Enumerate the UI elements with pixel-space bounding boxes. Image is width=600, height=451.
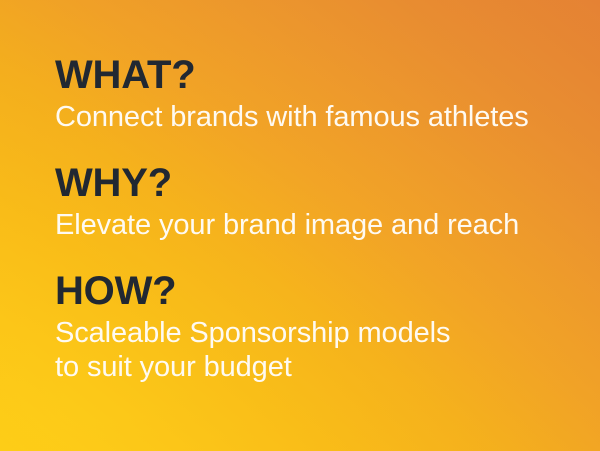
slide-content: WHAT? Connect brands with famous athlete… — [55, 52, 580, 384]
block-heading-why: WHY? — [55, 160, 580, 206]
value-prop-block-how: HOW? Scaleable Sponsorship models to sui… — [55, 268, 580, 384]
slide-canvas: WHAT? Connect brands with famous athlete… — [0, 0, 600, 451]
block-body-why: Elevate your brand image and reach — [55, 208, 580, 242]
value-prop-block-why: WHY? Elevate your brand image and reach — [55, 160, 580, 242]
block-heading-how: HOW? — [55, 268, 580, 314]
block-body-how: Scaleable Sponsorship models to suit you… — [55, 316, 580, 384]
block-heading-what: WHAT? — [55, 52, 580, 98]
block-body-what: Connect brands with famous athletes — [55, 100, 580, 134]
value-prop-block-what: WHAT? Connect brands with famous athlete… — [55, 52, 580, 134]
